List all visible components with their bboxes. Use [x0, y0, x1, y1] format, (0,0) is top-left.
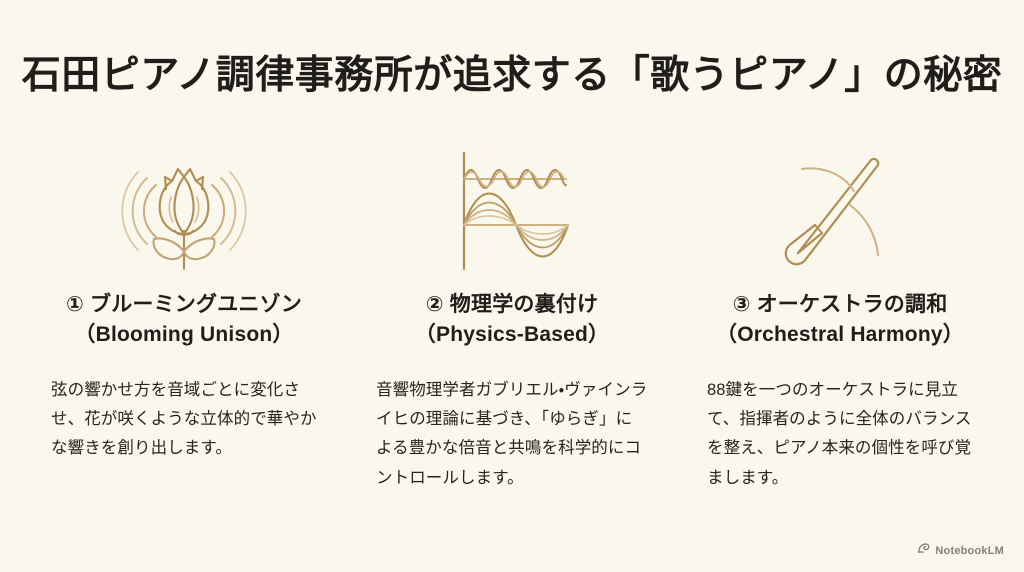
column-heading: ② 物理学の裏付け （Physics-Based） — [415, 290, 609, 350]
column-heading-en: （Orchestral Harmony） — [716, 320, 964, 350]
column-body-text: 弦の響かせ方を音域ごとに変化させ、花が咲くような立体的で華やかな響きを創り出しま… — [51, 376, 317, 464]
feature-column-physics-based: ② 物理学の裏付け （Physics-Based） 音響物理学者ガブリエル・ヴァ… — [356, 146, 668, 493]
sound-waveform-graph-icon — [437, 146, 587, 276]
column-heading-jp: ② 物理学の裏付け — [426, 293, 598, 316]
column-heading-en: （Blooming Unison） — [66, 320, 302, 350]
blooming-flower-resonance-icon — [109, 146, 259, 276]
page-title: 石田ピアノ調律事務所が追求する「歌うピアノ」の秘密 — [22, 52, 1002, 101]
column-body-text: 音響物理学者ガブリエル・ヴァインライヒの理論に基づき、「ゆらぎ」による豊かな倍音… — [376, 376, 648, 493]
column-heading-jp: ③ オーケストラの調和 — [733, 293, 948, 316]
column-heading-jp: ① ブルーミングユニゾン — [66, 293, 302, 316]
notebooklm-watermark: NotebookLM — [917, 542, 1004, 560]
feature-column-blooming-unison: ① ブルーミングユニゾン （Blooming Unison） 弦の響かせ方を音域… — [28, 146, 340, 464]
conductor-baton-icon — [765, 146, 915, 276]
notebooklm-logo-icon — [917, 542, 930, 560]
feature-column-orchestral-harmony: ③ オーケストラの調和 （Orchestral Harmony） 88鍵を一つの… — [684, 146, 996, 493]
column-heading: ① ブルーミングユニゾン （Blooming Unison） — [66, 290, 302, 350]
column-heading-en: （Physics-Based） — [415, 320, 609, 350]
column-heading: ③ オーケストラの調和 （Orchestral Harmony） — [716, 290, 964, 350]
slide-canvas: 石田ピアノ調律事務所が追求する「歌うピアノ」の秘密 — [0, 0, 1024, 572]
title-container: 石田ピアノ調律事務所が追求する「歌うピアノ」の秘密 — [0, 52, 1024, 101]
column-body-text: 88鍵を一つのオーケストラに見立て、指揮者のように全体のバランスを整え、ピアノ本… — [707, 376, 973, 493]
watermark-label: NotebookLM — [935, 545, 1004, 557]
feature-columns: ① ブルーミングユニゾン （Blooming Unison） 弦の響かせ方を音域… — [28, 146, 996, 493]
